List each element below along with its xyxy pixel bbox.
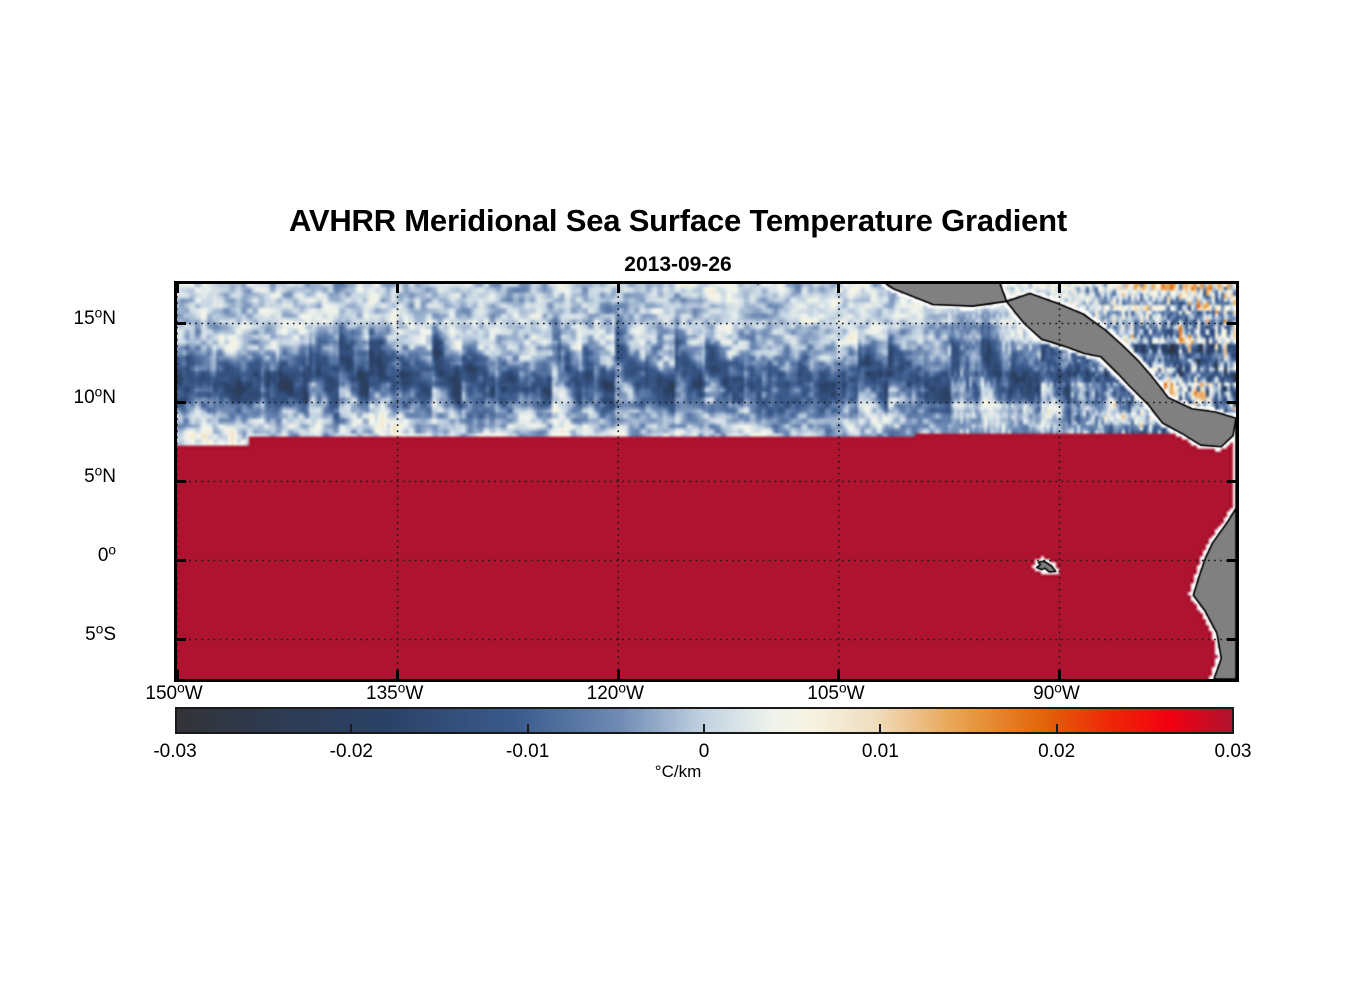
y-tick-mark [1227,638,1236,641]
x-tick-mark [1058,284,1061,293]
colorbar-tick-label: 0.01 [862,741,899,763]
y-tick-mark [1227,559,1236,562]
y-tick-label: 5oS [85,624,116,646]
x-tick-mark [1058,670,1061,679]
colorbar-tick-label: 0 [699,741,710,763]
y-tick-mark [177,638,186,641]
x-tick-mark [837,670,840,679]
colorbar-tick-mark [1056,724,1058,732]
x-tick-label: 90oW [1033,683,1080,705]
colorbar-tick-mark [703,724,705,732]
colorbar [175,707,1234,734]
colorbar-units-label: °C/km [0,762,1356,782]
y-tick-mark [177,322,186,325]
y-tick-label: 10oN [74,387,116,409]
map-axes [174,281,1239,682]
colorbar-tick-label: 0.03 [1215,741,1252,763]
colorbar-tick-mark [879,724,881,732]
sst-gradient-heatmap [177,284,1236,679]
x-tick-mark [617,670,620,679]
y-tick-label: 5oN [84,466,116,488]
figure-title: AVHRR Meridional Sea Surface Temperature… [0,203,1356,239]
y-tick-label: 0o [98,545,116,567]
x-tick-mark [176,670,179,679]
figure-subtitle: 2013-09-26 [0,253,1356,277]
y-tick-label: 15oN [74,308,116,330]
y-tick-mark [1227,480,1236,483]
y-tick-mark [177,401,186,404]
figure-root: AVHRR Meridional Sea Surface Temperature… [0,0,1356,1000]
x-tick-mark [396,284,399,293]
colorbar-tick-label: 0.02 [1038,741,1075,763]
y-tick-mark [1227,401,1236,404]
colorbar-tick-mark [527,724,529,732]
colorbar-tick-label: -0.02 [330,741,373,763]
colorbar-tick-mark [350,724,352,732]
x-tick-label: 120oW [587,683,644,705]
x-tick-mark [617,284,620,293]
y-tick-mark [177,559,186,562]
colorbar-tick-label: -0.01 [506,741,549,763]
x-tick-label: 135oW [366,683,423,705]
colorbar-tick-label: -0.03 [153,741,196,763]
x-tick-label: 105oW [807,683,864,705]
x-tick-mark [396,670,399,679]
x-tick-label: 150oW [145,683,202,705]
y-tick-mark [177,480,186,483]
y-tick-mark [1227,322,1236,325]
x-tick-mark [176,284,179,293]
x-tick-mark [837,284,840,293]
